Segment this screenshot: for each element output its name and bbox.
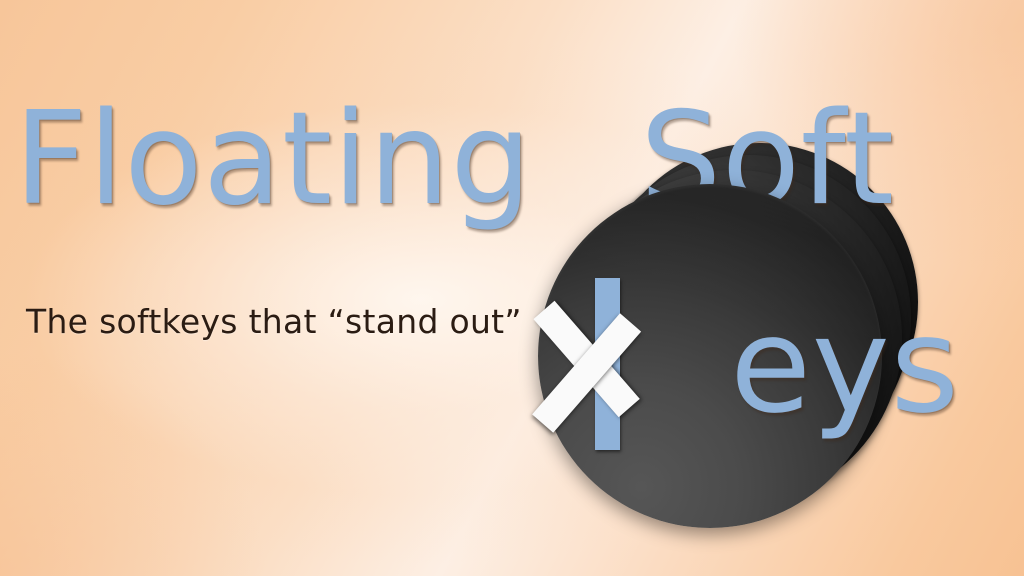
splash-screen: Floating Soft K eys The softkeys that “s…	[0, 0, 1024, 576]
title-word-floating: Floating	[14, 96, 532, 224]
title-word-keys-rest: eys	[730, 300, 960, 432]
tagline: The softkeys that “stand out”	[26, 302, 522, 341]
k-logo-icon	[592, 262, 732, 452]
